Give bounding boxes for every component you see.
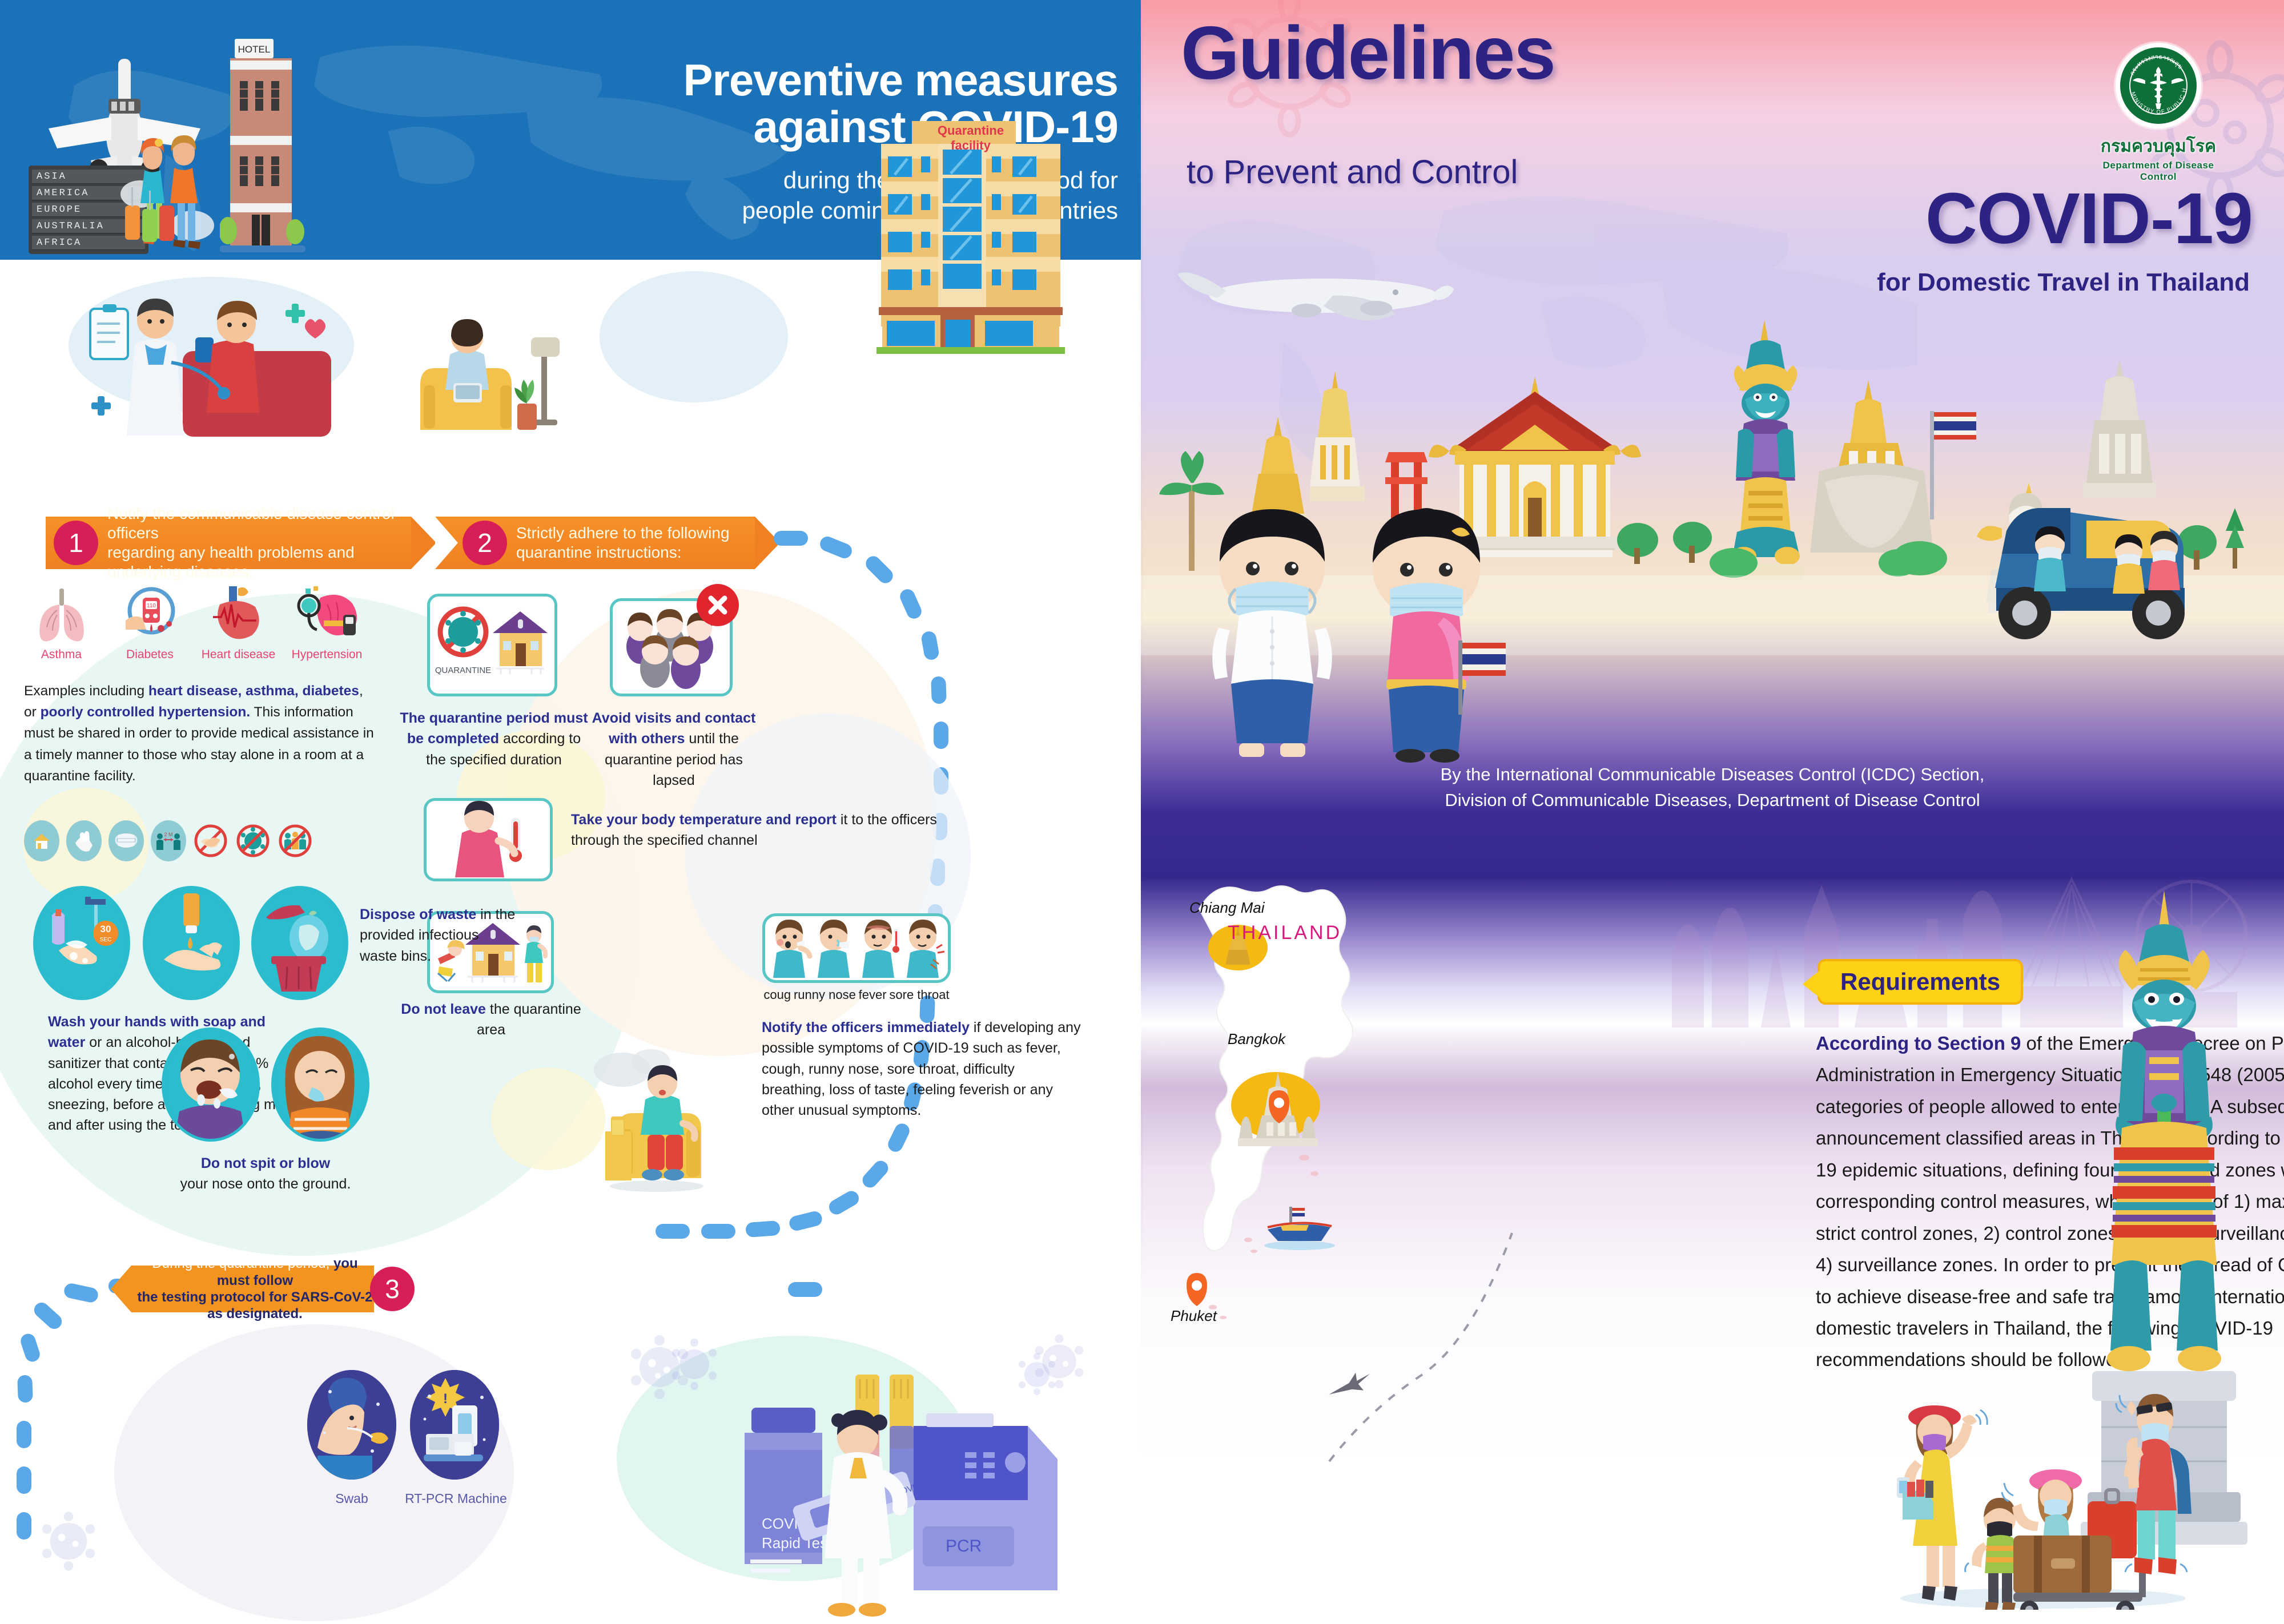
no-spit-rest: your nose onto the ground. [180,1176,351,1192]
requirements-badge: Requirements [1817,959,2023,1005]
disease-label: Diabetes [106,648,194,662]
notify-officers-bold: Notify the officers immediately [762,1019,970,1035]
step3-banner: During the quarantine period, you must f… [131,1266,374,1312]
step3-banner-line2: the testing protocol for SARS-CoV-2 as d… [136,1289,374,1323]
quarantine-period-card: QUARANTINE [427,594,557,696]
traveling-family-illustration [1883,1381,2203,1610]
map-city-label-phuket: Phuket [1171,1307,1217,1325]
step1-body-strong1: heart disease, asthma, diabetes [148,683,359,699]
no-crowd-icon [278,820,313,861]
symptom-label: sore throat [889,988,949,1002]
wash-hands-soap-circle: 30 SEC [33,886,130,1000]
disease-item: Asthma [17,582,106,662]
virus-decoration-icon [34,1507,103,1575]
svg-text:!: ! [443,1391,448,1407]
underlying-diseases-row: Asthma 110 Diabetes [17,582,371,662]
lungs-icon [17,582,106,642]
notify-officers-caption: Notify the officers immediately if devel… [762,1017,1081,1121]
symptom-labels-row: coug runny nose fever sore throat [762,988,951,1002]
hand-sanitizer-circle [143,886,240,1000]
map-country-label: THAILAND [1228,922,1342,944]
hygiene-icons-row: 2 M [24,820,313,861]
do-not-leave-caption-bold: Do not leave [401,1001,486,1017]
step2-banner-line1: Strictly adhere to the following [516,523,730,543]
step1-banner-line2: regarding any health problems and underl… [107,543,411,582]
quarantine-house-icon: QUARANTINE [430,597,554,694]
step1-body-intro: Examples including [24,683,148,699]
step2-banner: 2 Strictly adhere to the following quara… [435,517,755,569]
symptoms-card [762,913,951,983]
infographic-page: ASIA AMERICA EUROPE AUSTRALIA AFRICA [0,0,2284,1624]
step1-banner: 1 Notify the communicable disease contro… [46,517,411,569]
attribution-line2: Division of Communicable Diseases, Depar… [1324,788,2101,813]
disease-label: Heart disease [194,648,283,662]
disease-item: Heart disease [194,582,283,662]
disease-item: Hypertension [283,582,371,662]
attribution-line1: By the International Communicable Diseas… [1324,762,2101,788]
hotel-building-illustration: HOTEL [220,39,305,256]
thermometer-person-icon [427,801,550,879]
ministry-logo: กระทรวงสาธารณสุข MINISTRY OF PUBLIC HEAL… [2096,43,2221,183]
step1-banner-text: Notify the communicable disease control … [107,504,411,582]
svg-text:QUARANTINE: QUARANTINE [435,666,491,675]
do-not-leave-caption: Do not leave the quarantine area [400,999,582,1041]
step3-banner-bold2: the testing protocol for SARS-CoV-2 as d… [137,1289,372,1321]
step2-badge: 2 [463,521,507,565]
svg-text:2 M: 2 M [164,832,172,837]
laboratory-testing-illustration: PCR COVID-19 Rapid Test [645,1330,1068,1621]
svg-text:30: 30 [100,924,111,934]
step3-banner-normal: During the quarantine period, [152,1256,333,1271]
left-panel-preventive-measures: ASIA AMERICA EUROPE AUSTRALIA AFRICA [0,0,1141,1624]
disease-item: 110 Diabetes [106,582,194,662]
dashed-flight-path [1318,1216,1523,1467]
body-temperature-caption-bold: Take your body temperature and report [571,812,837,828]
quarantine-period-caption: The quarantine period must be completed … [400,708,588,770]
ministry-seal-icon: กระทรวงสาธารณสุข MINISTRY OF PUBLIC HEAL… [2116,43,2201,128]
quarantine-illustration-band [0,260,1141,511]
step1-banner-line1: Notify the communicable disease control … [107,504,411,543]
step1-body-text: Examples including heart disease, asthma… [24,680,378,787]
svg-text:Rapid Test: Rapid Test [762,1534,832,1552]
heart-ecg-icon [194,582,283,642]
waste-disposal-caption: Dispose of waste in the provided infecti… [360,904,520,966]
map-city-label-chiangmai: Chiang Mai [1189,899,1265,917]
symptom-label: coug [763,988,791,1002]
doctor-examination-illustration [86,283,354,442]
distance-2m-icon: 2 M [151,820,186,861]
no-handshake-icon [193,820,228,861]
logo-english-text: Department of Disease Control [2096,160,2221,183]
woman-on-sofa-illustration [394,283,582,442]
glucose-meter-icon: 110 [106,582,194,642]
blob-decoration [600,271,788,402]
pcr-machine-label: RT-PCR Machine [392,1491,520,1506]
body-temperature-caption: Take your body temperature and report it… [571,809,948,851]
header-title-line1: Preventive measures [604,57,1118,104]
waste-bin-circle [251,886,348,1000]
blood-pressure-icon [283,582,371,642]
wear-mask-icon [108,820,144,861]
step1-body-strong2: poorly controlled hypertension. [41,704,251,720]
svg-text:SEC: SEC [100,937,112,943]
step3-badge: 3 [370,1267,415,1311]
svg-text:PCR: PCR [946,1537,982,1556]
guidelines-title: Guidelines [1181,17,1555,88]
requirements-bold: According to Section 9 [1816,1033,2021,1054]
avoid-contact-caption: Avoid visits and contact with others unt… [588,708,759,791]
symptom-label: fever [859,988,887,1002]
svg-text:110: 110 [147,603,156,609]
wash-hands-icon [66,820,102,861]
step2-banner-line2: quarantine instructions: [516,543,730,562]
man-resting-in-chair-illustration [588,1045,759,1193]
avoid-contact-card [610,598,733,696]
logo-thai-text: กรมควบคุมโรค [2096,133,2221,160]
right-panel-guidelines: Guidelines to Prevent and Control COVID-… [1141,0,2284,1624]
forbidden-cross-icon [697,584,739,626]
step1-badge: 1 [54,521,98,565]
do-not-leave-caption-rest: the quarantine area [477,1001,581,1038]
waste-disposal-bold: Dispose of waste [360,906,476,922]
covid-symptoms-icon [765,916,948,980]
no-spit-girl-circle [271,1027,369,1142]
no-virus-icon [235,820,271,861]
attribution-text: By the International Communicable Diseas… [1141,762,2284,813]
quarantine-facility-sign: Quarantine facility [916,123,1025,153]
swab-circle [307,1370,396,1480]
symptom-label: runny nose [794,988,856,1002]
no-spit-boy-circle [162,1027,260,1142]
pcr-machine-circle: ! [410,1370,499,1480]
svg-text:HOTEL: HOTEL [238,44,271,55]
guidelines-subtitle: to Prevent and Control [1187,153,1518,191]
disease-label: Asthma [17,648,106,662]
swab-label: Swab [307,1491,396,1506]
no-spit-bold: Do not spit or blow [201,1155,330,1171]
map-city-label-bangkok: Bangkok [1228,1030,1285,1048]
no-spit-caption: Do not spit or blow your nose onto the g… [143,1153,388,1195]
step3-banner-line1: During the quarantine period, you must f… [136,1255,374,1289]
disease-label: Hypertension [283,648,371,662]
body-temperature-card [424,798,553,881]
stay-home-icon [24,820,59,861]
thailand-landmarks-illustration [1141,245,2284,771]
step2-banner-text: Strictly adhere to the following quarant… [516,523,730,562]
travelers-illustration [117,120,220,257]
